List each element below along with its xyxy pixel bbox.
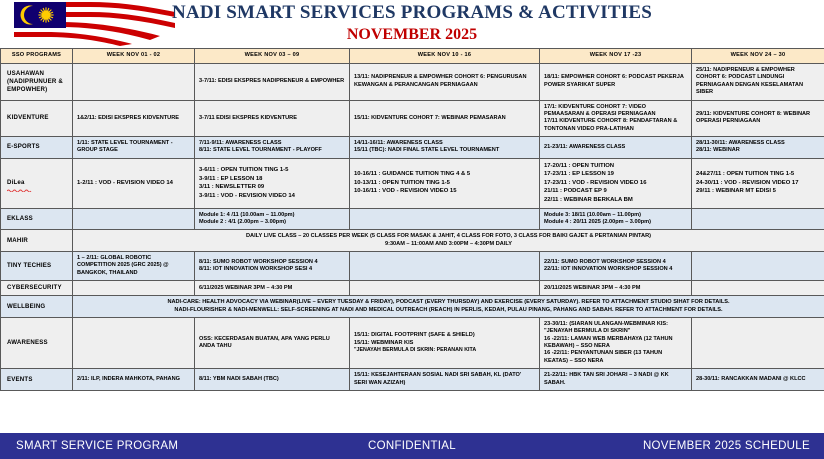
cell-line: 23-30/11: (SIARAN ULANGAN-WEBMINAR KIS: … (544, 321, 687, 336)
table-row: WELLBEINGNADI-CARE: HEALTH ADVOCACY VIA … (1, 296, 824, 318)
cell-line: 3-7/11 EDISI EKSPRES KIDVENTURE (199, 115, 345, 122)
cell-line: NADI-FLOURISHER & NADI-MENWELL: SELF-SCR… (77, 307, 820, 314)
cell-line: 1 – 2/11: GLOBAL ROBOTIC COMPETITION 202… (77, 255, 190, 277)
cell-line: 17/11 KIDVENTURE COHORT 8: PENDAFTARAN &… (544, 118, 687, 133)
program-name-cell: TINY TECHIES (1, 252, 73, 281)
cell-line: 22/11: IOT INNOVATION WORKSHOP SESSION 4 (544, 266, 687, 273)
cell-line: 17-23/11 : VOD - REVISION VIDEO 16 (544, 179, 687, 188)
cell-line: 21-23/11: AWARENESS CLASS (544, 144, 687, 151)
activity-cell (350, 208, 540, 230)
cell-line: 22/11: SUMO ROBOT WORKSHOP SESSION 4 (544, 259, 687, 266)
table-row: TINY TECHIES1 – 2/11: GLOBAL ROBOTIC COM… (1, 252, 824, 281)
cell-line: 15/11: KESEJAHTERAAN SOSIAL NADI SRI SAB… (354, 372, 535, 387)
cell-line: 2/11: ILP, INDERA MAHKOTA, PAHANG (77, 376, 190, 383)
activity-cell: 17/1: KIDVENTURE COHORT 7: VIDEO PEMAASA… (540, 100, 692, 137)
cell-line: 10-13/11 : OPEN TUITION TING 1-5 (354, 179, 535, 188)
activity-cell: 1 – 2/11: GLOBAL ROBOTIC COMPETITION 202… (73, 252, 195, 281)
cell-line: 6/11/2025 WEBINAR 3PM – 4:30 PM (199, 285, 345, 292)
table-row: KIDVENTURE1&2/11: EDISI EKSPRES KIDVENTU… (1, 100, 824, 137)
activity-cell: 21-22/11: HBK TAN SRI JOHARI – 3 NADI @ … (540, 369, 692, 391)
cell-line: 18/11: EMPOWHER COHORT 6: PODCAST PEKERJ… (544, 74, 687, 89)
activity-cell: 15/11: DIGITAL FOOTPRINT (SAFE & SHIELD)… (350, 317, 540, 368)
column-header-sso-programs: SSO PROGRAMS (1, 49, 73, 64)
program-name-cell: EKLASS (1, 208, 73, 230)
footer-left-label: SMART SERVICE PROGRAM (0, 440, 272, 452)
activity-cell: 28/11-30/11: AWARENESS CLASS28/11: WEBIN… (692, 137, 824, 159)
cell-line: 24-30/11 : VOD - REVISION VIDEO 17 (696, 179, 820, 188)
cell-line: 1/11: STATE LEVEL TOURNAMENT - GROUP STA… (77, 140, 190, 155)
column-header-week-2: WEEK NOV 03 – 09 (195, 49, 350, 64)
table-row: USAHAWAN (NADIPRUNUER & EMPOWHER)3-7/11:… (1, 64, 824, 101)
column-header-week-3: WEEK NOV 10 - 16 (350, 49, 540, 64)
program-name-cell: AWARENESS (1, 317, 73, 368)
activity-cell: 22/11: SUMO ROBOT WORKSHOP SESSION 422/1… (540, 252, 692, 281)
cell-line: 3/11 : NEWSLETTER 09 (199, 183, 345, 192)
column-header-week-5: WEEK NOV 24 – 30 (692, 49, 824, 64)
cell-line: 13/11: NADIPRENEUR & EMPOWHER COHORT 6: … (354, 74, 535, 89)
full-width-note-cell: NADI-CARE: HEALTH ADVOCACY VIA WEBINAR(L… (73, 296, 824, 318)
column-header-week-1: WEEK NOV 01 - 02 (73, 49, 195, 64)
table-row: EKLASSModule 1: 4 /11 (10.00am – 11.00pm… (1, 208, 824, 230)
activity-cell (73, 317, 195, 368)
footer-right-label: NOVEMBER 2025 SCHEDULE (552, 440, 824, 452)
cell-line: OSS: KECERDASAN BUATAN, APA YANG PERLU A… (199, 336, 345, 351)
cell-line: Module 4 : 20/11 2025 (2.00pm – 3.00pm) (544, 219, 687, 226)
activity-cell: 3-7/11: EDISI EKSPRES NADIPRENEUR & EMPO… (195, 64, 350, 101)
cell-line: Module 1: 4 /11 (10.00am – 11.00pm) (199, 212, 345, 219)
cell-line: 24&27/11 : OPEN TUITION TING 1-5 (696, 170, 820, 179)
cell-line: 28/11-30/11: AWARENESS CLASS (696, 140, 820, 147)
full-width-note-cell: DAILY LIVE CLASS – 20 CLASSES PER WEEK (… (73, 230, 824, 252)
cell-line: 14/11-16/11: AWARENESS CLASS (354, 140, 535, 147)
page-subtitle: NOVEMBER 2025 (347, 25, 477, 44)
cell-line: 28-30/11: RANCAKKAN MADANI @ KLCC (696, 376, 820, 383)
activity-cell: 14/11-16/11: AWARENESS CLASS15/11 (TBC):… (350, 137, 540, 159)
program-name-cell: WELLBEING (1, 296, 73, 318)
cell-line: "JENAYAH BERMULA DI SKRIN: PERANAN KITA (354, 347, 535, 354)
cell-line: 8/11: YBM NADI SABAH (TBC) (199, 376, 345, 383)
activity-cell: 1&2/11: EDISI EKSPRES KIDVENTURE (73, 100, 195, 137)
cell-line: 15/11: KIDVENTURE COHORT 7: WEBINAR PEMA… (354, 115, 535, 122)
activity-cell: 1-2/11 : VOD - REVISION VIDEO 14 (73, 158, 195, 208)
activity-cell: Module 1: 4 /11 (10.00am – 11.00pm)Modul… (195, 208, 350, 230)
footer-center-label: CONFIDENTIAL (272, 440, 552, 452)
activity-cell: 15/11: KESEJAHTERAAN SOSIAL NADI SRI SAB… (350, 369, 540, 391)
program-name-cell: EVENTS (1, 369, 73, 391)
program-label: DiLea (7, 179, 25, 187)
table-row: MAHIRDAILY LIVE CLASS – 20 CLASSES PER W… (1, 230, 824, 252)
cell-line: 3-9/11 : EP LESSON 18 (199, 175, 345, 184)
table-header-row: SSO PROGRAMS WEEK NOV 01 - 02 WEEK NOV 0… (1, 49, 824, 64)
cell-line: 10-16/11 : GUIDANCE TUITION TING 4 & 5 (354, 170, 535, 179)
cell-line: 29/11 : WEBINAR MT EDISI 5 (696, 187, 820, 196)
activity-cell: 1/11: STATE LEVEL TOURNAMENT - GROUP STA… (73, 137, 195, 159)
program-name-cell: CYBERSECURITY (1, 281, 73, 296)
activity-cell: OSS: KECERDASAN BUATAN, APA YANG PERLU A… (195, 317, 350, 368)
activity-cell: 15/11: KIDVENTURE COHORT 7: WEBINAR PEMA… (350, 100, 540, 137)
activity-cell (692, 281, 824, 296)
activity-cell: 24&27/11 : OPEN TUITION TING 1-524-30/11… (692, 158, 824, 208)
spellcheck-squiggle-icon (7, 187, 25, 190)
cell-line: NADI-CARE: HEALTH ADVOCACY VIA WEBINAR(L… (77, 299, 820, 306)
table-row: EVENTS2/11: ILP, INDERA MAHKOTA, PAHANG8… (1, 369, 824, 391)
activity-cell: 7/11-9/11: AWARENESS CLASS8/11: STATE LE… (195, 137, 350, 159)
cell-line: 16 -22/11: PENYANTUNAN SIBER (13 TAHUN K… (544, 350, 687, 365)
schedule-table-body: USAHAWAN (NADIPRUNUER & EMPOWHER)3-7/11:… (1, 64, 824, 391)
cell-line: 1-2/11 : VOD - REVISION VIDEO 14 (77, 179, 190, 188)
activity-cell (73, 64, 195, 101)
activity-cell (350, 252, 540, 281)
program-name-cell: E-SPORTS (1, 137, 73, 159)
cell-line: 8/11: IOT INNOVATION WORKSHOP SESI 4 (199, 266, 345, 273)
cell-line: 29/11: KIDVENTURE COHORT 8: WEBINAR OPER… (696, 111, 820, 126)
program-name-cell: USAHAWAN (NADIPRUNUER & EMPOWHER) (1, 64, 73, 101)
cell-line: 3-7/11: EDISI EKSPRES NADIPRENEUR & EMPO… (199, 78, 345, 85)
column-header-week-4: WEEK NOV 17 -23 (540, 49, 692, 64)
cell-line: 28/11: WEBINAR (696, 147, 820, 154)
activity-cell (73, 281, 195, 296)
activity-cell: 18/11: EMPOWHER COHORT 6: PODCAST PEKERJ… (540, 64, 692, 101)
page-title: NADI SMART SERVICES PROGRAMS & ACTIVITIE… (172, 3, 652, 24)
table-row: E-SPORTS1/11: STATE LEVEL TOURNAMENT - G… (1, 137, 824, 159)
activity-cell: 23-30/11: (SIARAN ULANGAN-WEBMINAR KIS: … (540, 317, 692, 368)
cell-line: 16 -22/11: LAMAN WEB MERBAHAYA (12 TAHUN… (544, 336, 687, 351)
activity-cell: 28-30/11: RANCAKKAN MADANI @ KLCC (692, 369, 824, 391)
activity-cell: 8/11: YBM NADI SABAH (TBC) (195, 369, 350, 391)
cell-line: 15/11: WEBMINAR KIS (354, 340, 535, 347)
cell-line: 17/1: KIDVENTURE COHORT 7: VIDEO PEMAASA… (544, 104, 687, 119)
cell-line: 21-22/11: HBK TAN SRI JOHARI – 3 NADI @ … (544, 372, 687, 387)
activity-cell: 3-7/11 EDISI EKSPRES KIDVENTURE (195, 100, 350, 137)
activity-cell: 17-20/11 : OPEN TUITION17-23/11 : EP LES… (540, 158, 692, 208)
table-row: AWARENESSOSS: KECERDASAN BUATAN, APA YAN… (1, 317, 824, 368)
activity-cell (692, 252, 824, 281)
cell-line: Module 2 : 4/1 (2.00pm – 3.00pm) (199, 219, 345, 226)
schedule-table: SSO PROGRAMS WEEK NOV 01 - 02 WEEK NOV 0… (0, 48, 824, 391)
cell-line: 8/11: STATE LEVEL TOURNAMENT - PLAYOFF (199, 147, 345, 154)
activity-cell: 13/11: NADIPRENEUR & EMPOWHER COHORT 6: … (350, 64, 540, 101)
cell-line: 10-16/11 : VOD - REVISION VIDEO 15 (354, 187, 535, 196)
activity-cell: 20/11/2025 WEBINAR 3PM – 4:30 PM (540, 281, 692, 296)
cell-line: 25/11: NADIPRENEUR & EMPOWHER COHORT 6: … (696, 67, 820, 97)
cell-line: 7/11-9/11: AWARENESS CLASS (199, 140, 345, 147)
activity-cell (692, 317, 824, 368)
activity-cell: 29/11: KIDVENTURE COHORT 8: WEBINAR OPER… (692, 100, 824, 137)
program-name-cell: MAHIR (1, 230, 73, 252)
cell-line: 1&2/11: EDISI EKSPRES KIDVENTURE (77, 115, 190, 122)
activity-cell (350, 281, 540, 296)
activity-cell: 3-6/11 : OPEN TUITION TING 1-53-9/11 : E… (195, 158, 350, 208)
activity-cell: 25/11: NADIPRENEUR & EMPOWHER COHORT 6: … (692, 64, 824, 101)
cell-line: 9:30AM – 11:00AM AND 3:00PM – 4:30PM DAI… (77, 241, 820, 248)
cell-line: DAILY LIVE CLASS – 20 CLASSES PER WEEK (… (77, 233, 820, 240)
cell-line: 3-6/11 : OPEN TUITION TING 1-5 (199, 166, 345, 175)
activity-cell: 8/11: SUMO ROBOT WORKSHOP SESSION 48/11:… (195, 252, 350, 281)
cell-line: 22/11 : WEBINAR BERKALA BM (544, 196, 687, 205)
cell-line: 17-23/11 : EP LESSON 19 (544, 170, 687, 179)
cell-line: 15/11 (TBC): NADI FINAL STATE LEVEL TOUR… (354, 147, 535, 154)
cell-line: 17-20/11 : OPEN TUITION (544, 162, 687, 171)
cell-line: 20/11/2025 WEBINAR 3PM – 4:30 PM (544, 285, 687, 292)
cell-line: Module 3: 18/11 (10.00am – 11.00pm) (544, 212, 687, 219)
cell-line: 8/11: SUMO ROBOT WORKSHOP SESSION 4 (199, 259, 345, 266)
page-header: NADI SMART SERVICES PROGRAMS & ACTIVITIE… (0, 0, 824, 48)
table-row: CYBERSECURITY6/11/2025 WEBINAR 3PM – 4:3… (1, 281, 824, 296)
activity-cell: 10-16/11 : GUIDANCE TUITION TING 4 & 510… (350, 158, 540, 208)
activity-cell: 21-23/11: AWARENESS CLASS (540, 137, 692, 159)
cell-line: 3-9/11 : VOD - REVISION VIDEO 14 (199, 192, 345, 201)
program-name-cell: KIDVENTURE (1, 100, 73, 137)
activity-cell: 6/11/2025 WEBINAR 3PM – 4:30 PM (195, 281, 350, 296)
program-name-cell: DiLea (1, 158, 73, 208)
activity-cell: Module 3: 18/11 (10.00am – 11.00pm)Modul… (540, 208, 692, 230)
activity-cell (73, 208, 195, 230)
activity-cell: 2/11: ILP, INDERA MAHKOTA, PAHANG (73, 369, 195, 391)
cell-line: 21/11 : PODCAST EP 9 (544, 187, 687, 196)
cell-line: 15/11: DIGITAL FOOTPRINT (SAFE & SHIELD) (354, 332, 535, 339)
malaysia-flag-icon (0, 0, 175, 48)
activity-cell (692, 208, 824, 230)
table-row: DiLea1-2/11 : VOD - REVISION VIDEO 143-6… (1, 158, 824, 208)
page-footer: SMART SERVICE PROGRAM CONFIDENTIAL NOVEM… (0, 433, 824, 459)
